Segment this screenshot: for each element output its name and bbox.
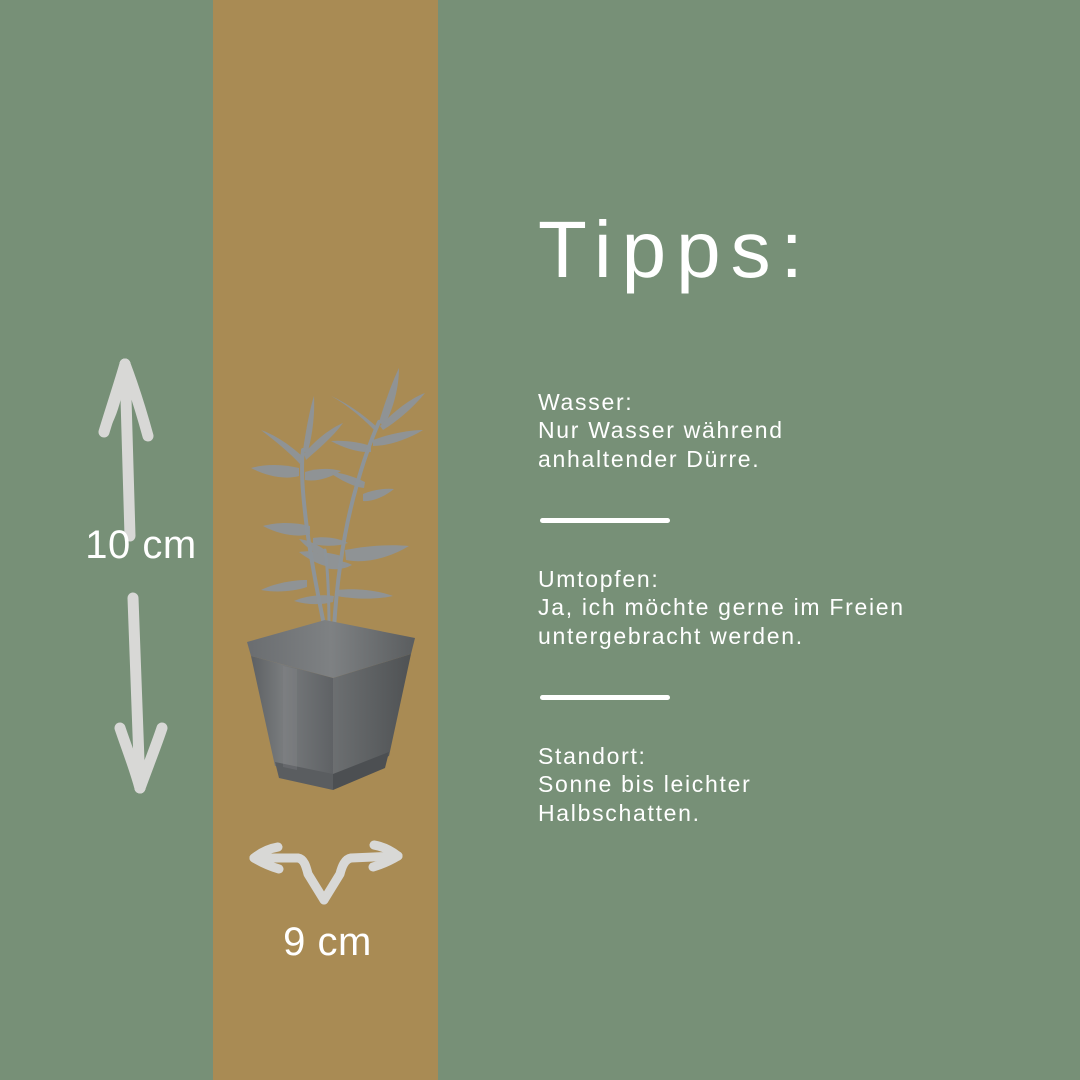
potted-plant-photo (213, 250, 438, 800)
tip-heading-wasser: Wasser: (538, 388, 1038, 416)
height-measurement-label: 10 cm (56, 525, 226, 565)
tip-body-wasser: Nur Wasser während anhaltender Dürre. (538, 416, 1038, 473)
tip-heading-standort: Standort: (538, 742, 1038, 770)
tip-body-umtopfen: Ja, ich möchte gerne im Freien untergebr… (538, 593, 1038, 650)
tips-panel: Tipps: Wasser: Nur Wasser während anhalt… (538, 210, 1038, 827)
tip-divider-1 (540, 518, 670, 523)
width-measurement-label: 9 cm (240, 922, 415, 962)
tip-heading-umtopfen: Umtopfen: (538, 565, 1038, 593)
double-arrow-vertical-icon (78, 336, 198, 822)
page-title: Tipps: (538, 210, 1038, 290)
tip-block-standort: Standort: Sonne bis leichter Halbschatte… (538, 742, 1038, 827)
tip-block-umtopfen: Umtopfen: Ja, ich möchte gerne im Freien… (538, 565, 1038, 650)
tip-divider-2 (540, 695, 670, 700)
tip-body-standort: Sonne bis leichter Halbschatten. (538, 770, 1038, 827)
infographic-canvas: 10 cm 9 cm Tipps: Wasser: Nur Wasser wäh (0, 0, 1080, 1080)
tip-block-wasser: Wasser: Nur Wasser während anhaltender D… (538, 388, 1038, 473)
double-arrow-horizontal-icon (232, 836, 422, 906)
